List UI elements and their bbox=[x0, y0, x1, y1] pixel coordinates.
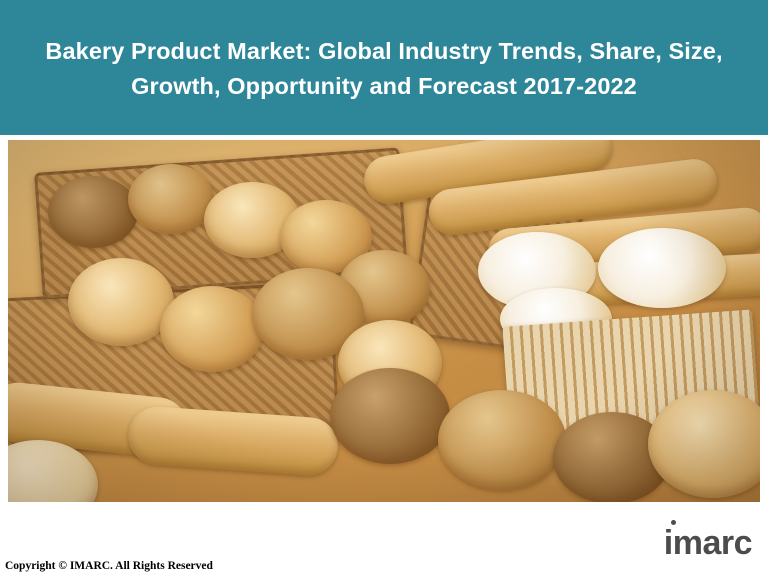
imarc-logo: imarc bbox=[664, 524, 752, 562]
photo-vignette bbox=[8, 140, 760, 502]
page-title: Bakery Product Market: Global Industry T… bbox=[18, 34, 750, 104]
footer: Copyright © IMARC. All Rights Reserved i… bbox=[0, 502, 768, 576]
bakery-photo-image bbox=[8, 140, 760, 502]
bakery-photo bbox=[8, 140, 760, 502]
header-band: Bakery Product Market: Global Industry T… bbox=[0, 0, 768, 135]
slide: Bakery Product Market: Global Industry T… bbox=[0, 0, 768, 576]
copyright-text: Copyright © IMARC. All Rights Reserved bbox=[5, 560, 213, 572]
